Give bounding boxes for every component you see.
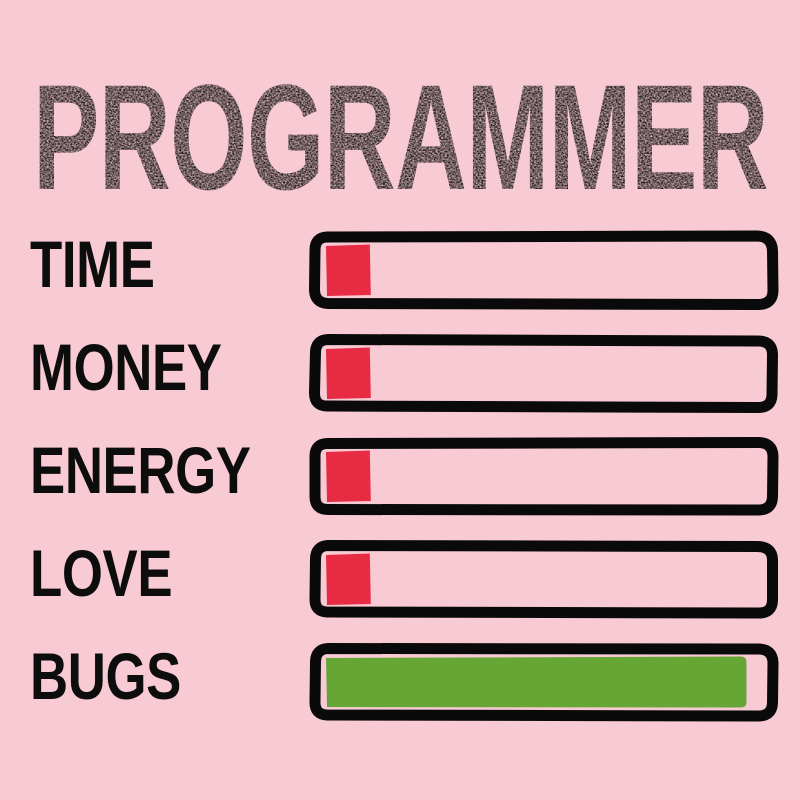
progress-bar-time-fill [326, 245, 371, 297]
poster-canvas: PROGRAMMER TIME MONEY [0, 0, 800, 800]
progress-bar-love-graphic [308, 539, 780, 621]
progress-bar-money[interactable] [308, 333, 780, 415]
progress-bar-love[interactable] [308, 539, 780, 621]
stat-label-bugs: BUGS [30, 640, 181, 712]
stat-row-love: LOVE [0, 537, 800, 640]
title-text: PROGRAMMER [33, 56, 768, 206]
stat-label-time: TIME [30, 228, 155, 300]
stat-row-money: MONEY [0, 331, 800, 434]
progress-bar-time[interactable] [308, 230, 780, 312]
progress-bar-money-fill [326, 348, 371, 400]
progress-bar-time-outline [315, 236, 774, 305]
progress-bar-bugs[interactable] [308, 642, 780, 724]
progress-bar-money-graphic [308, 333, 780, 415]
stat-row-time: TIME [0, 228, 800, 331]
title-artwork: PROGRAMMER [0, 56, 800, 206]
stat-label-money: MONEY [30, 331, 222, 403]
stat-label-love: LOVE [30, 537, 172, 609]
progress-bar-love-fill [326, 554, 371, 606]
progress-bar-energy-outline [315, 443, 773, 511]
progress-bar-energy-fill [326, 451, 371, 503]
stat-rows: TIME MONEY ENERGY [0, 228, 800, 743]
progress-bar-time-graphic [308, 230, 780, 312]
progress-bar-energy[interactable] [308, 436, 780, 518]
stat-row-energy: ENERGY [0, 434, 800, 537]
progress-bar-bugs-graphic [308, 642, 780, 724]
progress-bar-energy-graphic [308, 436, 780, 518]
stat-row-bugs: BUGS [0, 640, 800, 743]
progress-bar-money-outline [315, 340, 773, 408]
stat-label-energy: ENERGY [30, 434, 251, 506]
progress-bar-love-outline [315, 546, 773, 614]
progress-bar-bugs-fill [326, 657, 746, 708]
poster-title: PROGRAMMER [0, 56, 800, 206]
